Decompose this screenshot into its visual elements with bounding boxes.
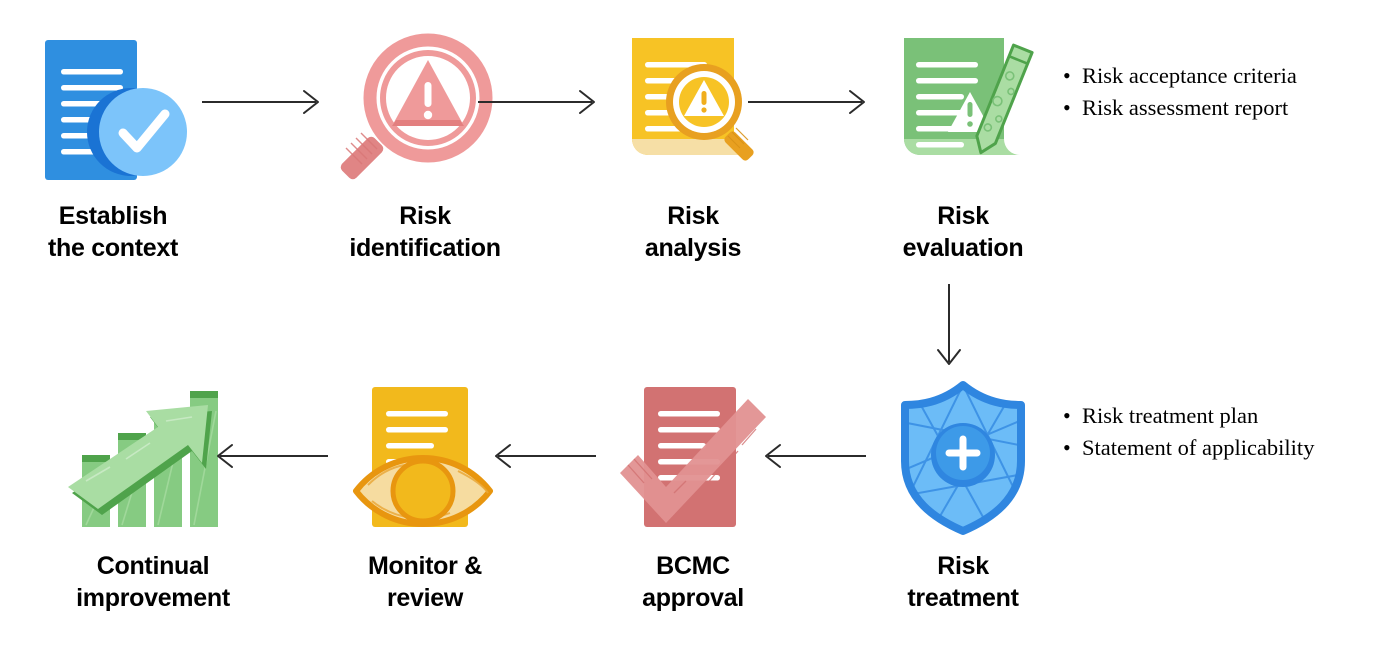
process-node-continual[interactable]: Continual improvement bbox=[33, 372, 273, 614]
diagram-canvas: Establish the context bbox=[0, 0, 1384, 650]
process-node-label: BCMC approval bbox=[573, 550, 813, 614]
process-node-bcmc[interactable]: BCMC approval bbox=[573, 372, 813, 614]
document-check-icon bbox=[0, 22, 233, 192]
document-pencil-warning-icon bbox=[843, 22, 1083, 192]
list-item: Risk treatment plan bbox=[1082, 400, 1314, 432]
process-node-establish[interactable]: Establish the context bbox=[0, 22, 233, 264]
connector-analysis-to-evaluation bbox=[746, 86, 876, 118]
connector-identification-to-analysis bbox=[476, 86, 606, 118]
process-node-evaluation[interactable]: Risk evaluation bbox=[843, 22, 1083, 264]
list-item: Risk assessment report bbox=[1082, 92, 1297, 124]
process-node-label: Risk analysis bbox=[573, 200, 813, 264]
process-node-label: Risk treatment bbox=[843, 550, 1083, 614]
connector-establish-to-identification bbox=[200, 86, 330, 118]
connector-evaluation-to-treatment bbox=[932, 282, 966, 374]
list-item: Risk acceptance criteria bbox=[1082, 60, 1297, 92]
connector-bcmc-to-monitor bbox=[490, 440, 610, 472]
process-node-label: Establish the context bbox=[0, 200, 233, 264]
process-node-identification[interactable]: Risk identification bbox=[305, 22, 545, 264]
connector-monitor-to-continual bbox=[212, 440, 342, 472]
evaluation-outputs-list: Risk acceptance criteria Risk assessment… bbox=[1060, 60, 1297, 124]
process-node-treatment[interactable]: Risk treatment bbox=[843, 372, 1083, 614]
list-item: Statement of applicability bbox=[1082, 432, 1314, 464]
process-node-monitor[interactable]: Monitor & review bbox=[305, 372, 545, 614]
process-node-label: Continual improvement bbox=[33, 550, 273, 614]
process-node-analysis[interactable]: Risk analysis bbox=[573, 22, 813, 264]
treatment-outputs-list: Risk treatment plan Statement of applica… bbox=[1060, 400, 1314, 464]
process-node-label: Risk evaluation bbox=[843, 200, 1083, 264]
connector-treatment-to-bcmc bbox=[760, 440, 880, 472]
process-node-label: Risk identification bbox=[305, 200, 545, 264]
process-node-label: Monitor & review bbox=[305, 550, 545, 614]
